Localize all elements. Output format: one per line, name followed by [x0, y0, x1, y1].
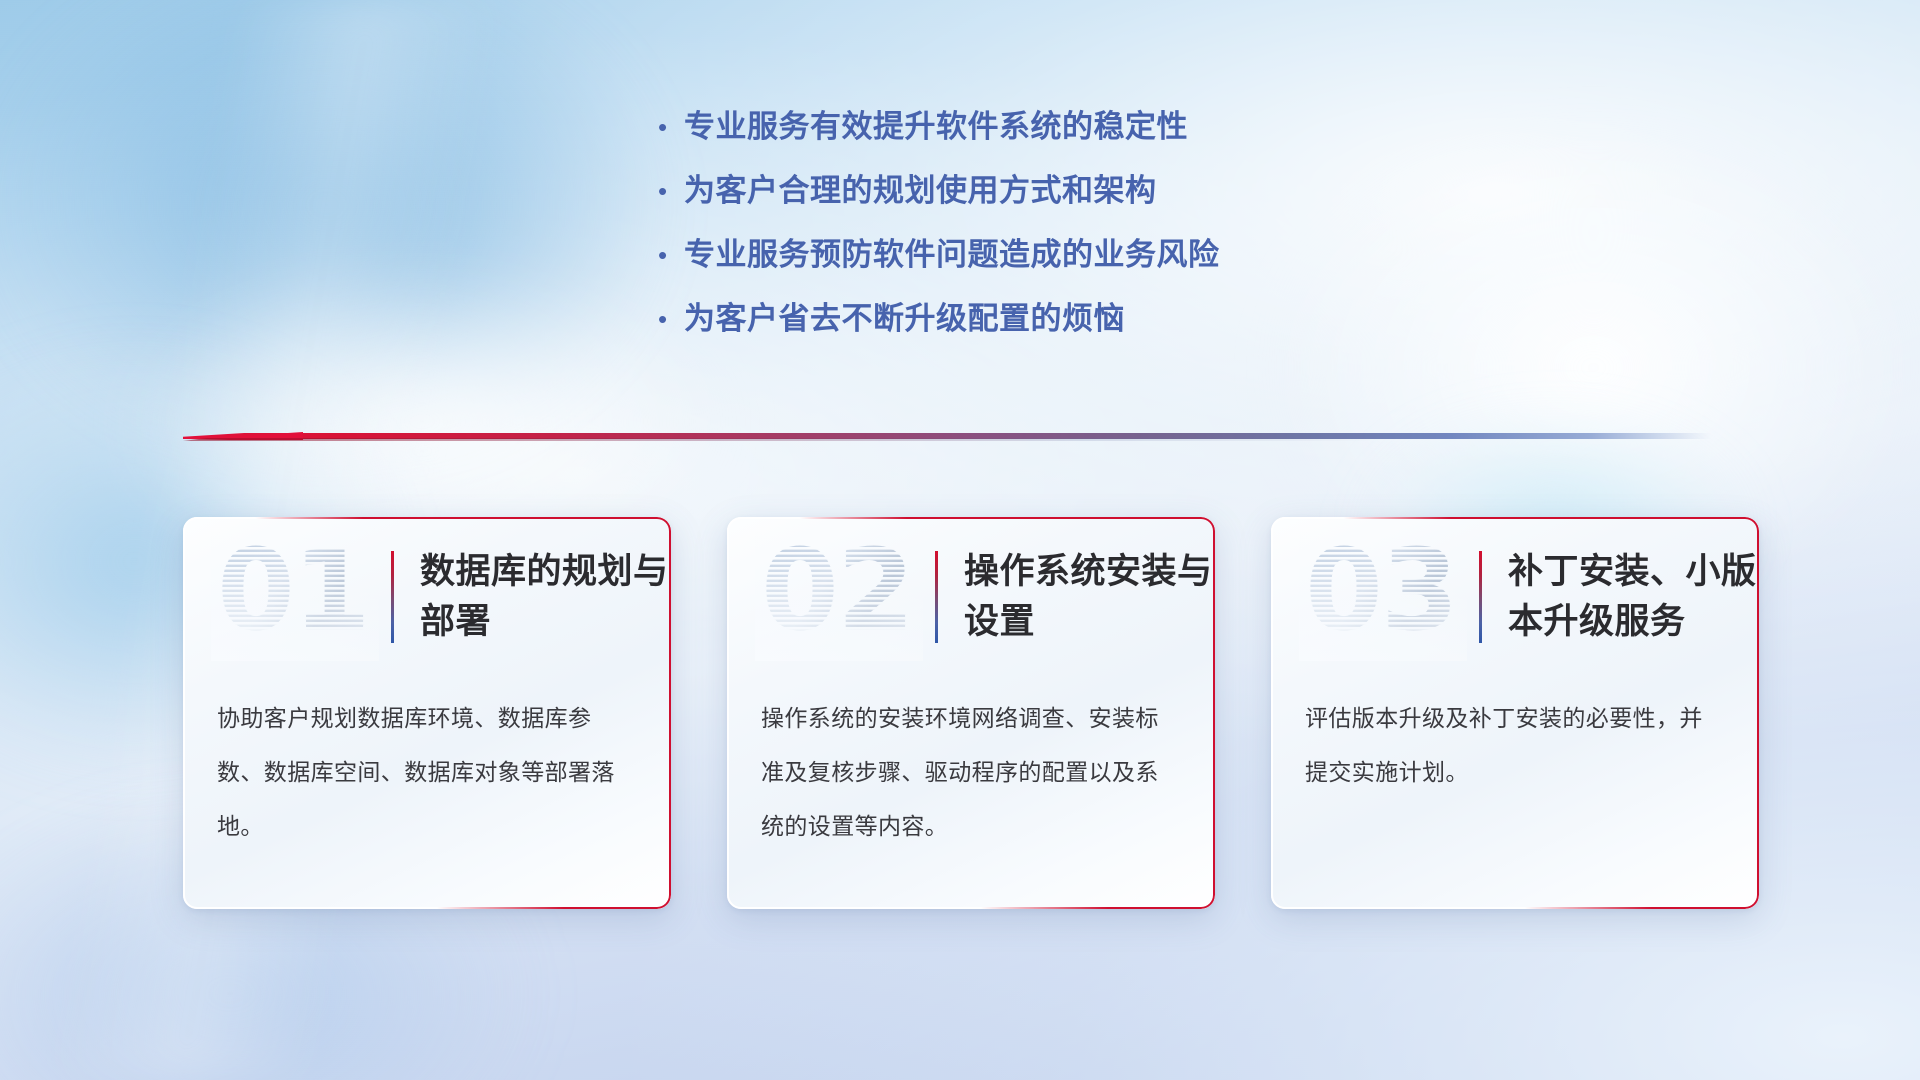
card-title: 补丁安装、小版本升级服务 — [1508, 547, 1759, 647]
benefits-list: • 专业服务有效提升软件系统的稳定性 • 为客户合理的规划使用方式和架构 • 专… — [658, 104, 1220, 360]
list-item: • 专业服务预防软件问题造成的业务风险 — [658, 232, 1220, 296]
list-item: • 为客户省去不断升级配置的烦恼 — [658, 296, 1220, 360]
divider-shadow — [183, 438, 1375, 441]
card-title: 数据库的规划与部署 — [420, 547, 671, 647]
card-number-texture: 02 — [761, 535, 913, 647]
list-item-label: 专业服务有效提升软件系统的稳定性 — [684, 104, 1188, 150]
list-item-label: 为客户合理的规划使用方式和架构 — [684, 168, 1157, 214]
card-title: 操作系统安装与设置 — [964, 547, 1215, 647]
card-title-rule — [1479, 551, 1482, 643]
service-card[interactable]: 01 01 数据库的规划与部署 协助客户规划数据库环境、数据库参数、数据库空间、… — [183, 517, 671, 909]
card-number-badge: 03 03 — [1305, 541, 1455, 653]
bullet-dot-icon: • — [658, 104, 684, 150]
list-item: • 专业服务有效提升软件系统的稳定性 — [658, 104, 1220, 168]
card-description: 评估版本升级及补丁安装的必要性，并提交实施计划。 — [1271, 677, 1759, 799]
card-number-texture: 01 — [217, 535, 369, 647]
card-number-badge: 02 02 — [761, 541, 911, 653]
card-header: 01 01 数据库的规划与部署 — [183, 517, 671, 677]
bullet-dot-icon: • — [658, 296, 684, 342]
card-title-rule — [391, 551, 394, 643]
list-item-label: 为客户省去不断升级配置的烦恼 — [684, 296, 1125, 342]
section-divider — [183, 428, 1711, 444]
card-number-badge: 01 01 — [217, 541, 367, 653]
bullet-dot-icon: • — [658, 232, 684, 278]
card-description: 操作系统的安装环境网络调查、安装标准及复核步骤、驱动程序的配置以及系统的设置等内… — [727, 677, 1215, 853]
card-number-texture: 03 — [1305, 535, 1457, 647]
service-card[interactable]: 03 03 补丁安装、小版本升级服务 评估版本升级及补丁安装的必要性，并提交实施… — [1271, 517, 1759, 909]
bullet-dot-icon: • — [658, 168, 684, 214]
card-header: 02 02 操作系统安装与设置 — [727, 517, 1215, 677]
card-title-rule — [935, 551, 938, 643]
list-item-label: 专业服务预防软件问题造成的业务风险 — [684, 232, 1220, 278]
card-header: 03 03 补丁安装、小版本升级服务 — [1271, 517, 1759, 677]
card-description: 协助客户规划数据库环境、数据库参数、数据库空间、数据库对象等部署落地。 — [183, 677, 671, 853]
list-item: • 为客户合理的规划使用方式和架构 — [658, 168, 1220, 232]
service-card-list: 01 01 数据库的规划与部署 协助客户规划数据库环境、数据库参数、数据库空间、… — [183, 517, 1759, 909]
service-card[interactable]: 02 02 操作系统安装与设置 操作系统的安装环境网络调查、安装标准及复核步骤、… — [727, 517, 1215, 909]
